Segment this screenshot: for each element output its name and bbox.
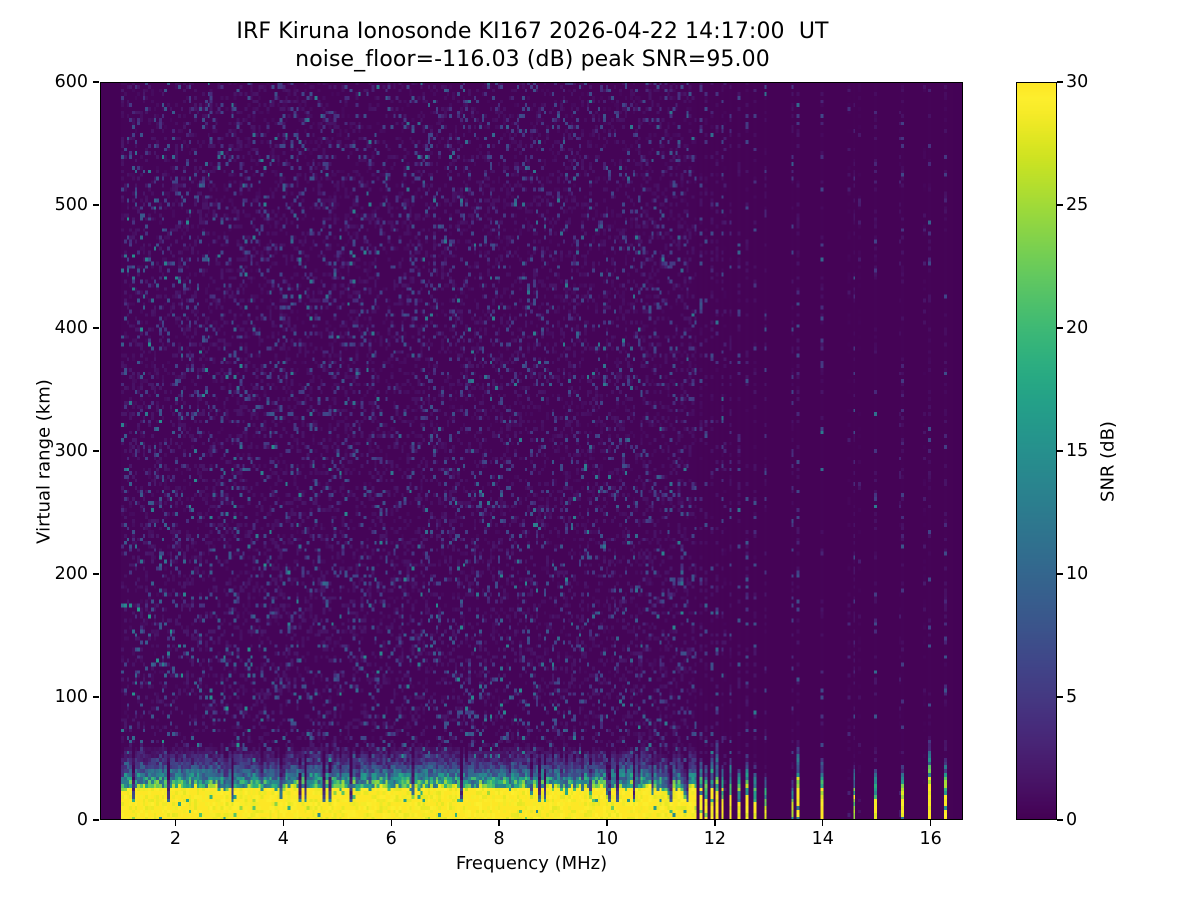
y-tick-mark <box>93 696 99 697</box>
colorbar-tick-label: 5 <box>1066 687 1077 707</box>
colorbar-tick-mark <box>1057 450 1063 451</box>
y-tick-label: 500 <box>55 195 88 215</box>
colorbar-tick-label: 10 <box>1066 564 1088 584</box>
x-tick-mark <box>822 820 823 826</box>
colorbar-tick-label: 15 <box>1066 441 1088 461</box>
colorbar-tick-label: 0 <box>1066 810 1077 830</box>
y-tick-mark <box>93 819 99 820</box>
y-tick-label: 0 <box>77 810 88 830</box>
x-tick-label: 12 <box>704 829 726 849</box>
x-tick-label: 6 <box>386 829 397 849</box>
x-tick-label: 10 <box>596 829 618 849</box>
y-tick-mark <box>93 327 99 328</box>
x-tick-label: 4 <box>278 829 289 849</box>
colorbar-tick-label: 30 <box>1066 72 1088 92</box>
y-tick-label: 200 <box>55 564 88 584</box>
colorbar-title: SNR (dB) <box>1098 332 1119 592</box>
colorbar-tick-mark <box>1057 819 1063 820</box>
x-tick-mark <box>283 820 284 826</box>
x-tick-mark <box>391 820 392 826</box>
colorbar-tick-label: 25 <box>1066 195 1088 215</box>
x-tick-label: 2 <box>170 829 181 849</box>
ionogram-axes <box>100 82 963 820</box>
colorbar-tick-mark <box>1057 696 1063 697</box>
y-tick-label: 300 <box>55 441 88 461</box>
x-tick-mark <box>930 820 931 826</box>
title-line-2: noise_floor=-116.03 (dB) peak SNR=95.00 <box>0 46 1065 74</box>
figure-title: IRF Kiruna Ionosonde KI167 2026-04-22 14… <box>0 18 1065 74</box>
x-tick-mark <box>498 820 499 826</box>
x-tick-label: 16 <box>919 829 941 849</box>
x-tick-mark <box>175 820 176 826</box>
x-axis-title: Frequency (MHz) <box>100 853 963 874</box>
y-tick-label: 400 <box>55 318 88 338</box>
y-tick-mark <box>93 204 99 205</box>
colorbar-tick-mark <box>1057 573 1063 574</box>
y-tick-label: 600 <box>55 72 88 92</box>
x-tick-label: 14 <box>812 829 834 849</box>
colorbar-tick-label: 20 <box>1066 318 1088 338</box>
x-tick-label: 8 <box>494 829 505 849</box>
y-tick-mark <box>93 450 99 451</box>
x-tick-mark <box>606 820 607 826</box>
colorbar-tick-mark <box>1057 204 1063 205</box>
y-tick-mark <box>93 573 99 574</box>
ionogram-heatmap <box>101 83 962 819</box>
colorbar-tick-mark <box>1057 327 1063 328</box>
colorbar <box>1016 82 1057 820</box>
colorbar-tick-mark <box>1057 81 1063 82</box>
ionogram-figure: IRF Kiruna Ionosonde KI167 2026-04-22 14… <box>0 0 1200 900</box>
y-tick-label: 100 <box>55 687 88 707</box>
title-line-1: IRF Kiruna Ionosonde KI167 2026-04-22 14… <box>0 18 1065 46</box>
y-axis-title: Virtual range (km) <box>34 332 55 592</box>
x-tick-mark <box>714 820 715 826</box>
colorbar-gradient <box>1017 83 1056 819</box>
y-tick-mark <box>93 81 99 82</box>
